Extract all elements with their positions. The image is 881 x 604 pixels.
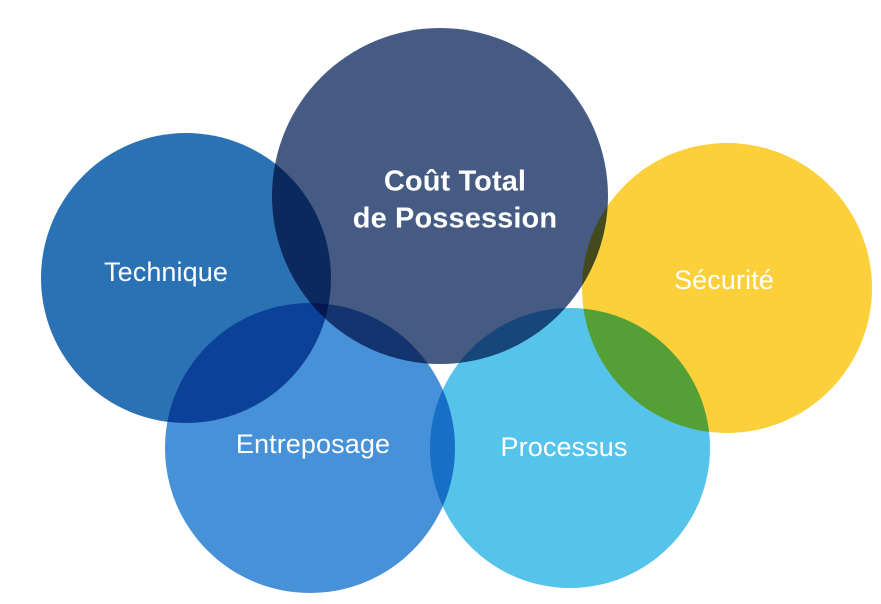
circle-securite[interactable]: [582, 143, 872, 433]
venn-diagram: Technique Coût Total de Possession Sécur…: [0, 0, 881, 604]
circle-cout-total-de-possession[interactable]: [272, 28, 608, 364]
venn-circles-canvas: [0, 0, 881, 604]
